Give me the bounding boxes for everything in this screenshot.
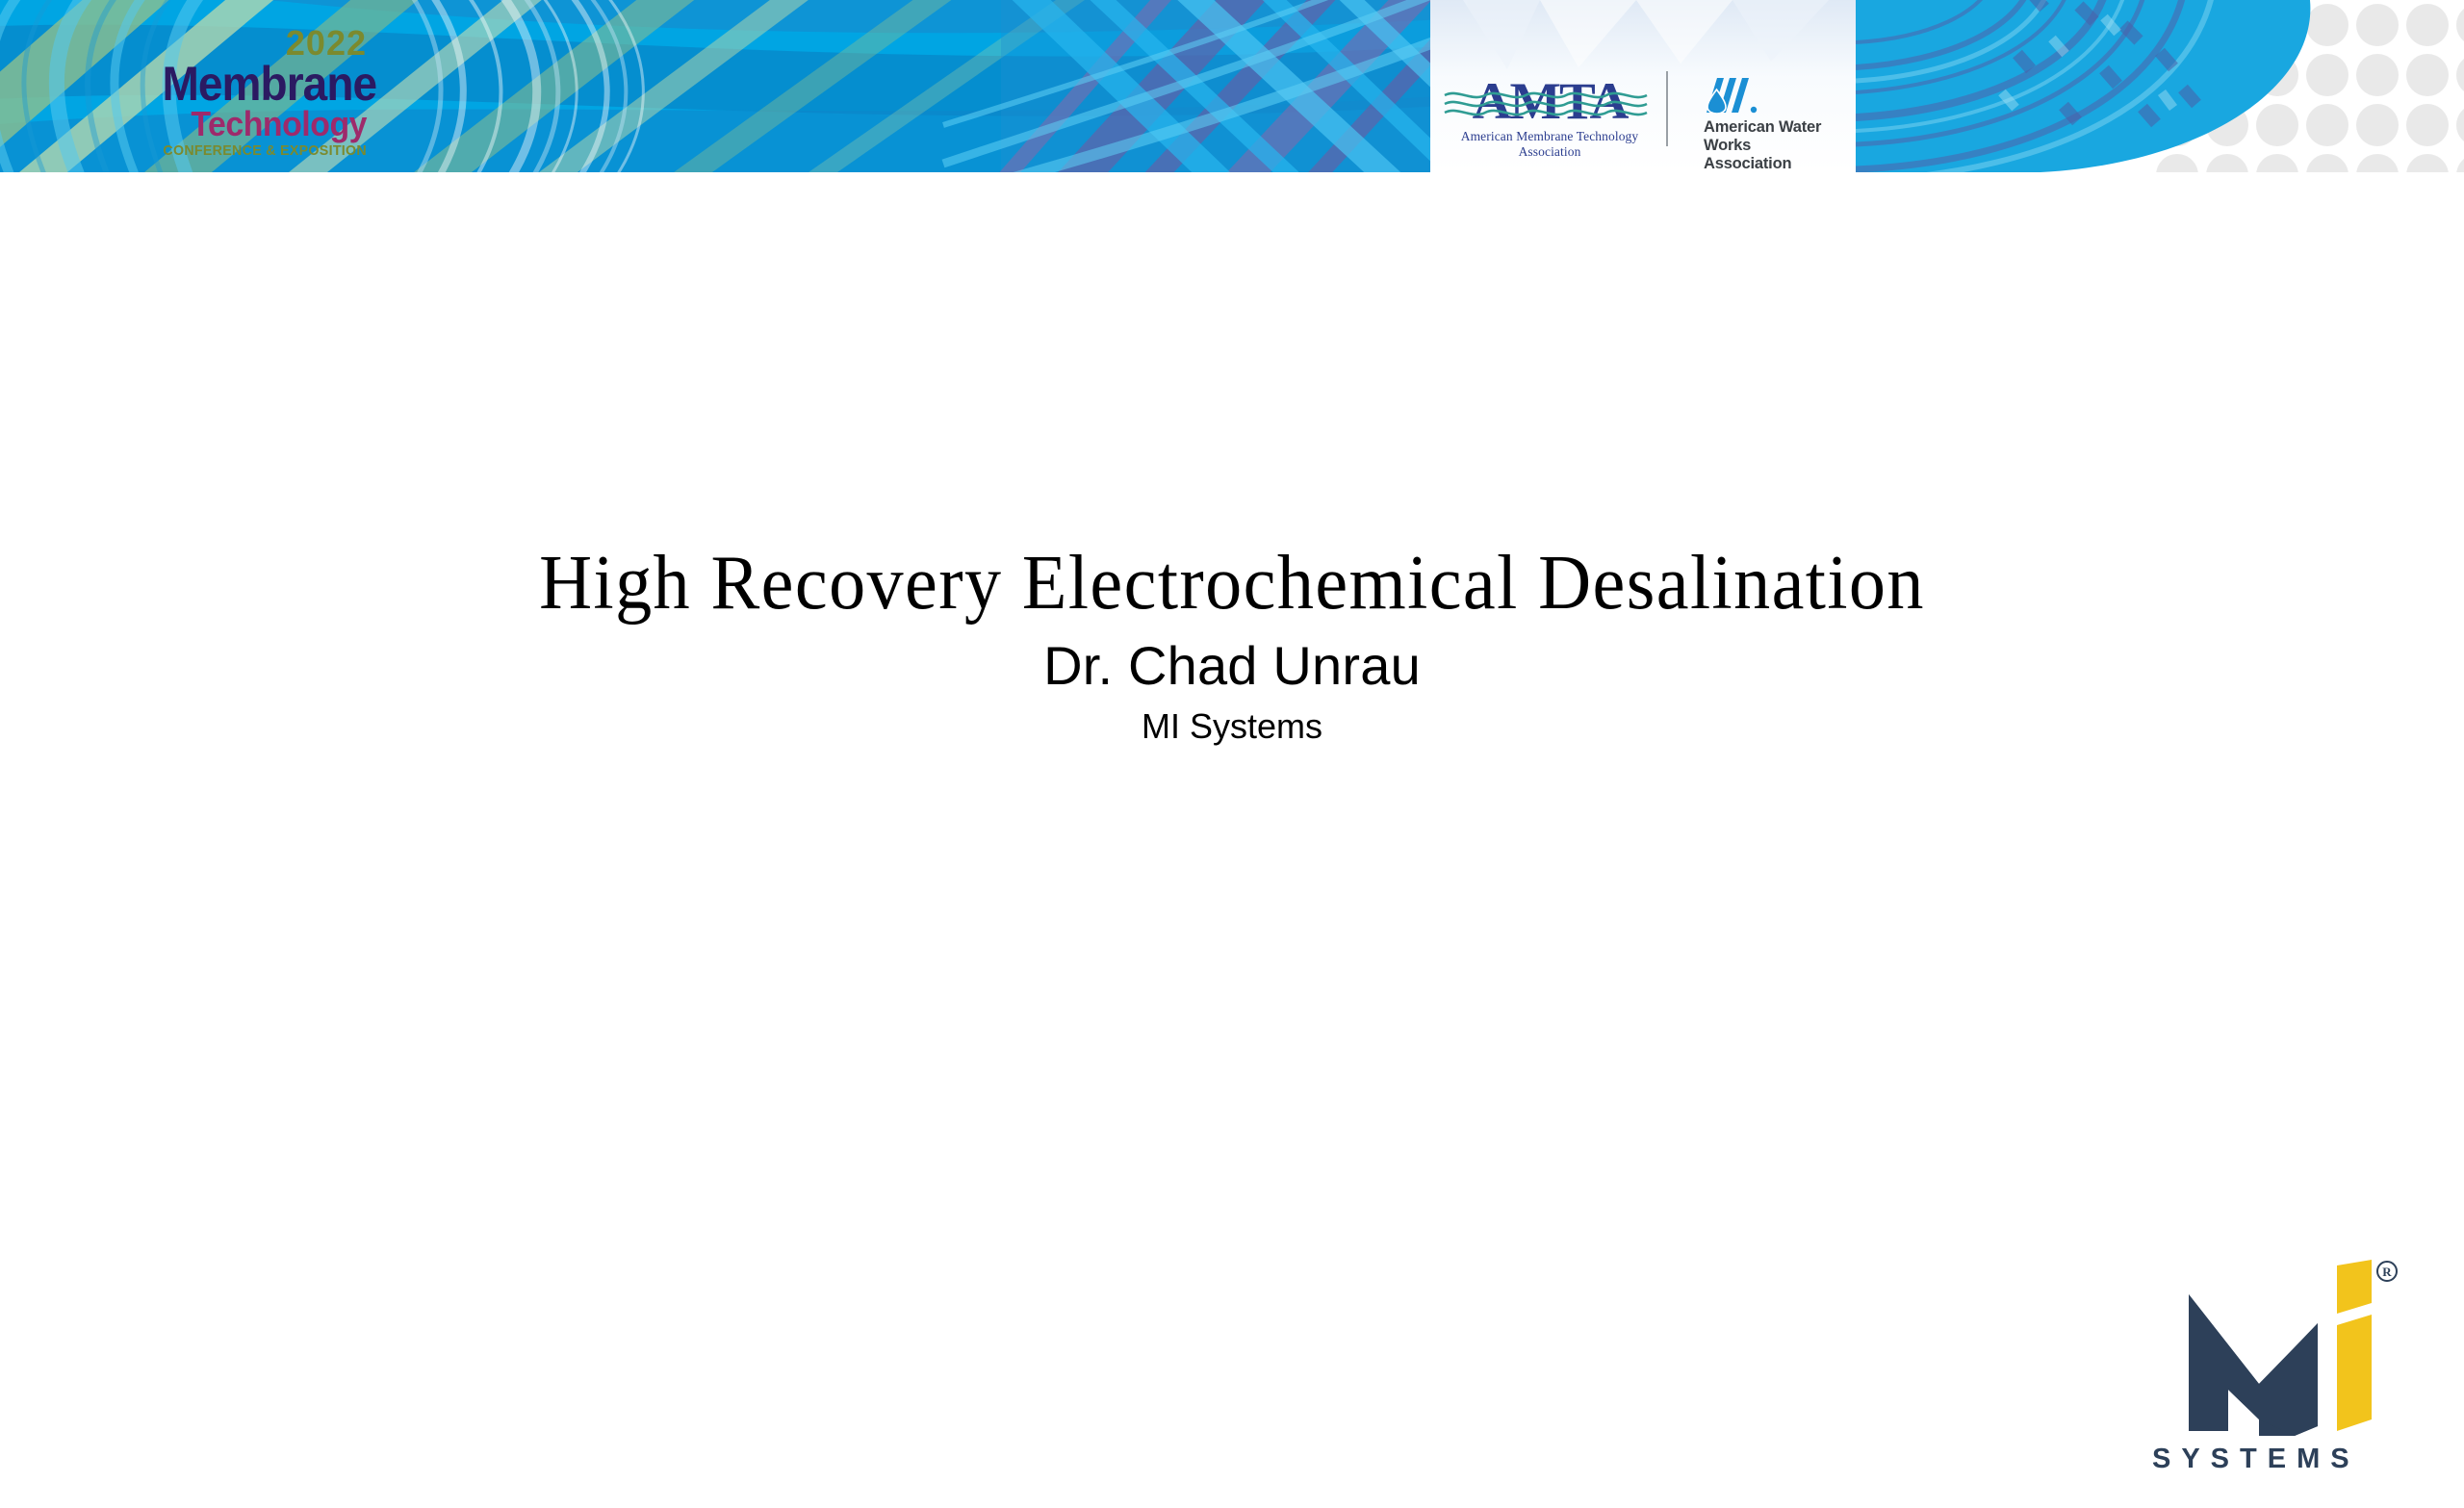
presenter-name: Dr. Chad Unrau	[0, 634, 2464, 698]
awwa-name-line1: American Water Works	[1704, 118, 1821, 154]
awwa-logo: American Water Works Association	[1704, 77, 1862, 164]
svg-text:R: R	[2382, 1265, 2392, 1279]
logo-divider	[1666, 71, 1668, 146]
mi-systems-logo: R SYSTEMS	[2148, 1258, 2437, 1508]
slide-body: High Recovery Electrochemical Desalinati…	[0, 172, 2464, 1386]
mi-systems-wordmark: SYSTEMS	[2148, 1444, 2437, 1475]
mtc-conference-expo-label: CONFERENCE & EXPOSITION	[156, 142, 367, 160]
amta-logo: AMTA American Membrane Technology Associ…	[1439, 75, 1660, 157]
mi-monogram-icon: R	[2148, 1258, 2437, 1445]
mtc-technology-label: Technology	[158, 106, 367, 142]
registered-trademark-icon: R	[2377, 1262, 2397, 1281]
title-block: High Recovery Electrochemical Desalinati…	[0, 538, 2464, 748]
presenter-affiliation: MI Systems	[0, 705, 2464, 748]
slide-title: High Recovery Electrochemical Desalinati…	[74, 538, 2390, 626]
awwa-name: American Water Works Association	[1704, 118, 1862, 172]
water-drop-icon	[1704, 77, 1773, 114]
amta-tagline: American Membrane Technology Association	[1439, 129, 1660, 160]
mtc-membrane-label: Membrane	[162, 62, 367, 106]
header-banner: 2022 Membrane Technology CONFERENCE & EX…	[0, 0, 2464, 172]
awwa-name-line2: Association	[1704, 155, 1791, 172]
amta-wordmark: AMTA	[1433, 75, 1666, 127]
membrane-technology-conference-logo: 2022 Membrane Technology CONFERENCE & EX…	[144, 6, 380, 167]
